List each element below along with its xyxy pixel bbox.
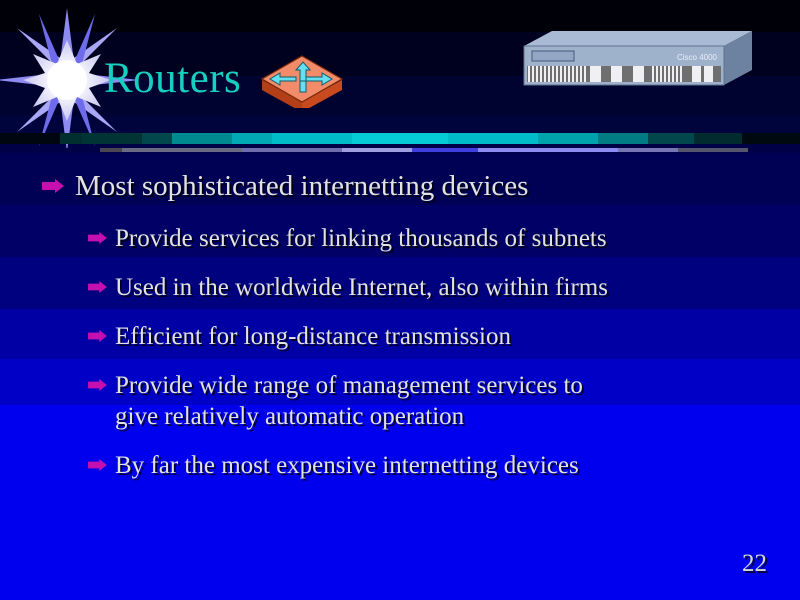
divider-segment bbox=[82, 133, 142, 144]
bullet-text: Provide wide range of management service… bbox=[115, 370, 583, 432]
divider-segment bbox=[694, 133, 742, 144]
divider-segment bbox=[272, 133, 352, 144]
bullet-item: Efficient for long-distance transmission bbox=[88, 321, 800, 352]
bullet-text: Provide services for linking thousands o… bbox=[115, 223, 607, 254]
slide-body: Most sophisticated internetting devicesP… bbox=[0, 160, 800, 481]
bullet-item: Provide services for linking thousands o… bbox=[88, 223, 800, 254]
divider-line-segment bbox=[412, 148, 478, 152]
bullet-arrow-icon bbox=[88, 459, 107, 475]
divider-segment bbox=[142, 133, 172, 144]
router-icon bbox=[256, 50, 348, 108]
bullet-item: Most sophisticated internetting devices bbox=[42, 168, 800, 205]
divider-segment bbox=[538, 133, 598, 144]
divider-segment bbox=[352, 133, 448, 144]
divider-segment bbox=[598, 133, 648, 144]
bullet-text: By far the most expensive internetting d… bbox=[115, 450, 579, 481]
bullet-item: By far the most expensive internetting d… bbox=[88, 450, 800, 481]
background-band bbox=[0, 116, 800, 133]
divider-segment bbox=[172, 133, 232, 144]
cisco-router-chassis: Cisco 4000 bbox=[512, 28, 752, 90]
divider-line-segment bbox=[0, 148, 100, 152]
divider-line-segment bbox=[678, 148, 748, 152]
page-number: 22 bbox=[742, 550, 767, 578]
divider-line-segment bbox=[342, 148, 412, 152]
divider-line-segment bbox=[122, 148, 242, 152]
accent-divider-line bbox=[0, 148, 800, 152]
bullet-text: Most sophisticated internetting devices bbox=[75, 168, 528, 205]
bullet-text: Used in the worldwide Internet, also wit… bbox=[115, 272, 608, 303]
divider-segment bbox=[448, 133, 538, 144]
chassis-model-label: Cisco 4000 bbox=[677, 53, 718, 62]
bullet-text: Efficient for long-distance transmission bbox=[115, 321, 511, 352]
bullet-arrow-icon bbox=[88, 379, 107, 395]
bullet-arrow-icon bbox=[88, 232, 107, 248]
divider-segment bbox=[648, 133, 694, 144]
divider-segment bbox=[232, 133, 272, 144]
bullet-item: Provide wide range of management service… bbox=[88, 370, 800, 432]
divider-segment bbox=[0, 133, 60, 144]
bullet-item: Used in the worldwide Internet, also wit… bbox=[88, 272, 800, 303]
bullet-arrow-icon bbox=[88, 281, 107, 297]
accent-divider-bar bbox=[0, 133, 800, 144]
divider-line-segment bbox=[618, 148, 678, 152]
page-title: Routers bbox=[104, 54, 241, 104]
divider-line-segment bbox=[478, 148, 618, 152]
divider-segment bbox=[742, 133, 800, 144]
divider-line-segment bbox=[100, 148, 122, 152]
divider-line-segment bbox=[748, 148, 800, 152]
bullet-arrow-icon bbox=[88, 330, 107, 346]
slide-canvas: Routers bbox=[0, 0, 800, 600]
bullet-arrow-icon bbox=[42, 179, 64, 197]
divider-line-segment bbox=[242, 148, 342, 152]
divider-segment bbox=[60, 133, 82, 144]
